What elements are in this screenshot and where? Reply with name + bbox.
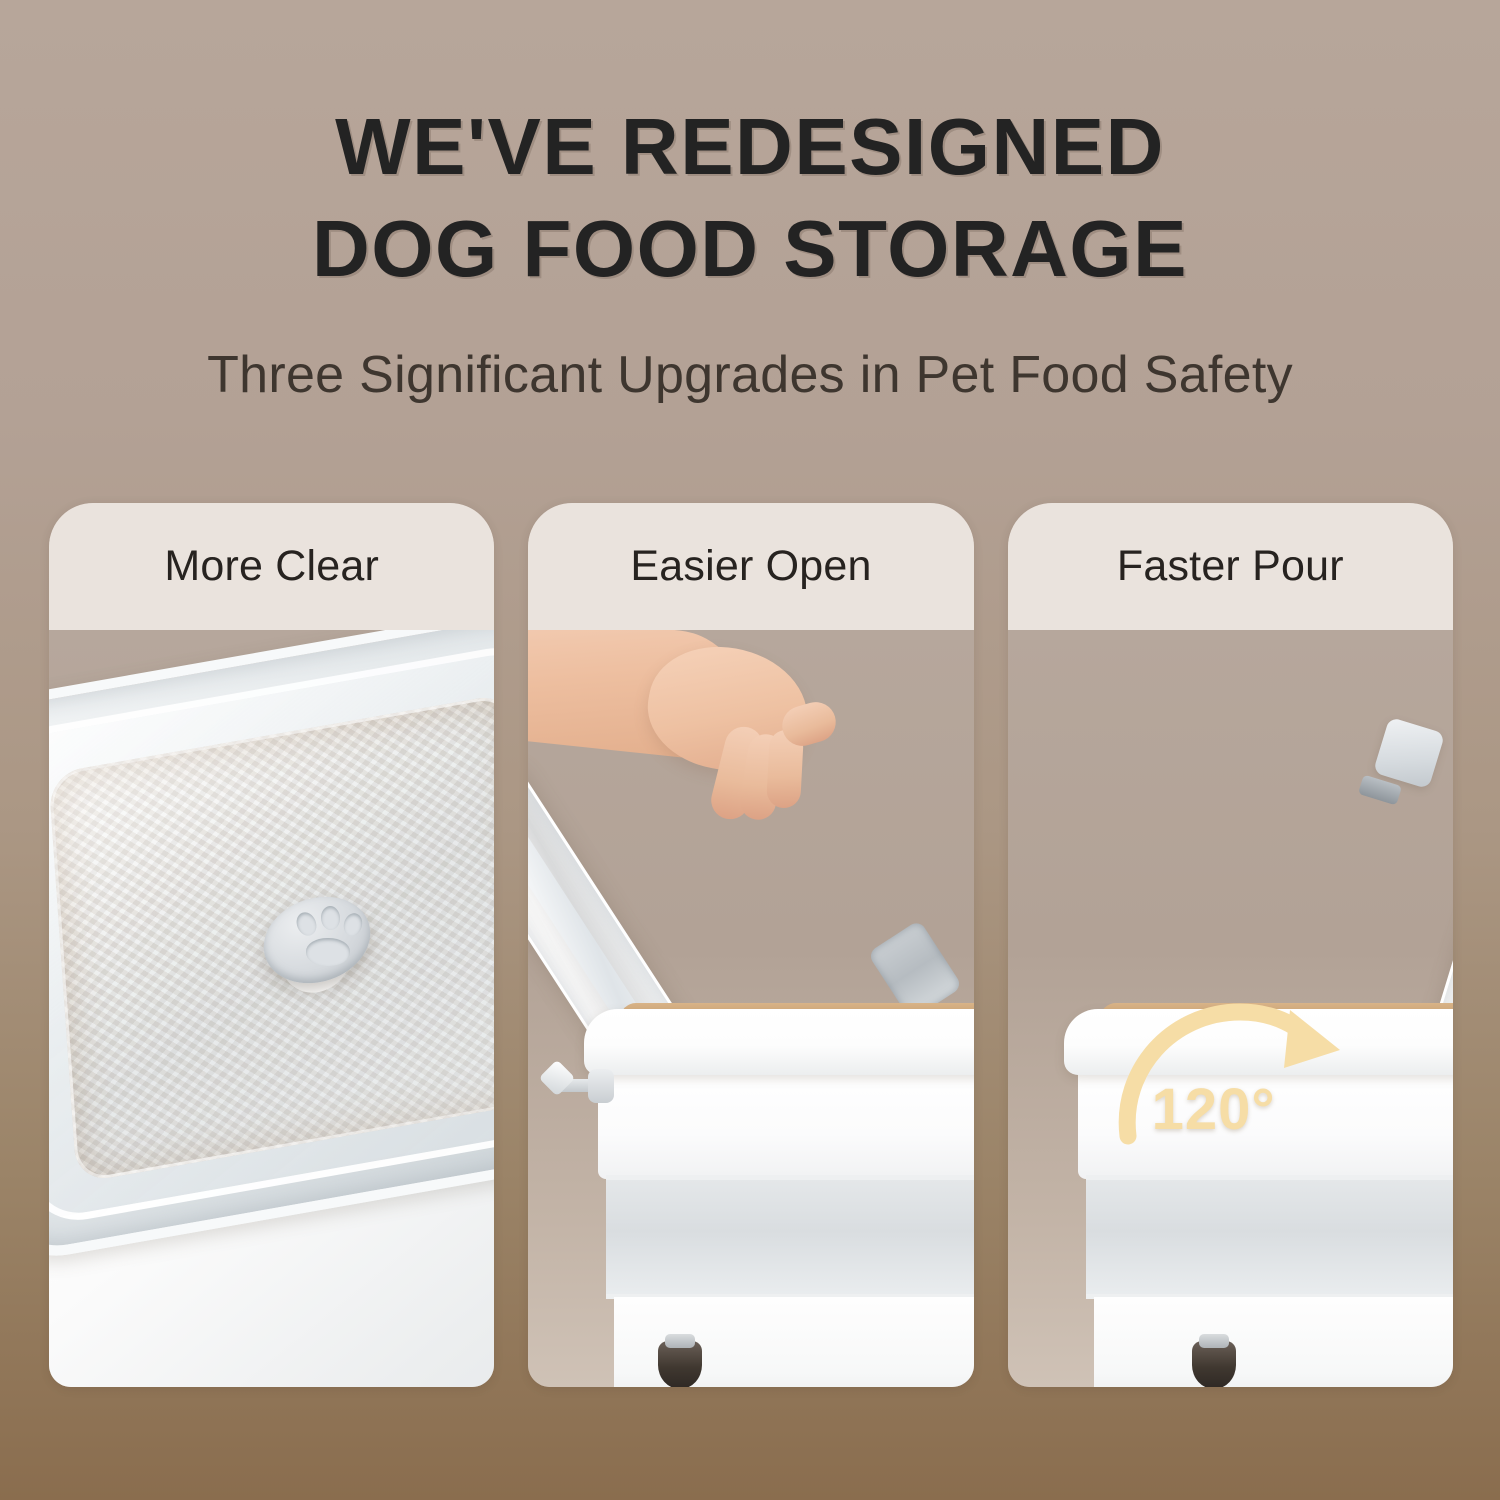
- feature-card-row: More Clear: [49, 503, 1453, 1387]
- product-photo-easier-open: [528, 630, 973, 1387]
- card-title-more-clear: More Clear: [164, 542, 379, 591]
- bin-middle-band: [606, 1175, 973, 1299]
- storage-bin: [584, 1009, 973, 1369]
- page-subtitle: Three Significant Upgrades in Pet Food S…: [0, 345, 1500, 405]
- feature-card-more-clear[interactable]: More Clear: [49, 503, 494, 1387]
- angle-label: 120°: [1152, 1076, 1276, 1143]
- page-title-line-1: WE'VE REDESIGNED: [0, 96, 1500, 198]
- caster-wheel-left: [1192, 1341, 1236, 1387]
- header-block: WE'VE REDESIGNED DOG FOOD STORAGE Three …: [0, 0, 1500, 405]
- card-title-faster-pour: Faster Pour: [1117, 542, 1344, 591]
- card-title-easier-open: Easier Open: [630, 542, 871, 591]
- card-header-faster-pour: Faster Pour: [1008, 503, 1453, 630]
- hinge-block: [1372, 717, 1444, 789]
- bin-upper-panel: [598, 1067, 973, 1179]
- product-photo-faster-pour: 120°: [1008, 630, 1453, 1387]
- infographic-page: WE'VE REDESIGNED DOG FOOD STORAGE Three …: [0, 0, 1500, 1500]
- card-header-more-clear: More Clear: [49, 503, 494, 630]
- product-photo-more-clear: [49, 630, 494, 1387]
- angle-badge: 120°: [1114, 998, 1352, 1162]
- feature-card-faster-pour[interactable]: Faster Pour: [1008, 503, 1453, 1387]
- bin-middle-band: [1086, 1175, 1453, 1299]
- card-header-easier-open: Easier Open: [528, 503, 973, 630]
- clear-lid-illustration: [49, 630, 494, 1387]
- bin-rim: [584, 1009, 973, 1075]
- page-title-line-2: DOG FOOD STORAGE: [0, 198, 1500, 300]
- latch-knuckle: [588, 1069, 614, 1103]
- paw-pad-main: [306, 938, 350, 966]
- feature-card-easier-open[interactable]: Easier Open: [528, 503, 973, 1387]
- bin-lower-panel: [1094, 1297, 1453, 1387]
- pour-angle-illustration: 120°: [1008, 630, 1453, 1387]
- side-latch-bracket: [544, 1061, 610, 1105]
- hand-opening-lid-illustration: [528, 630, 973, 1387]
- caster-wheel-left: [658, 1341, 702, 1387]
